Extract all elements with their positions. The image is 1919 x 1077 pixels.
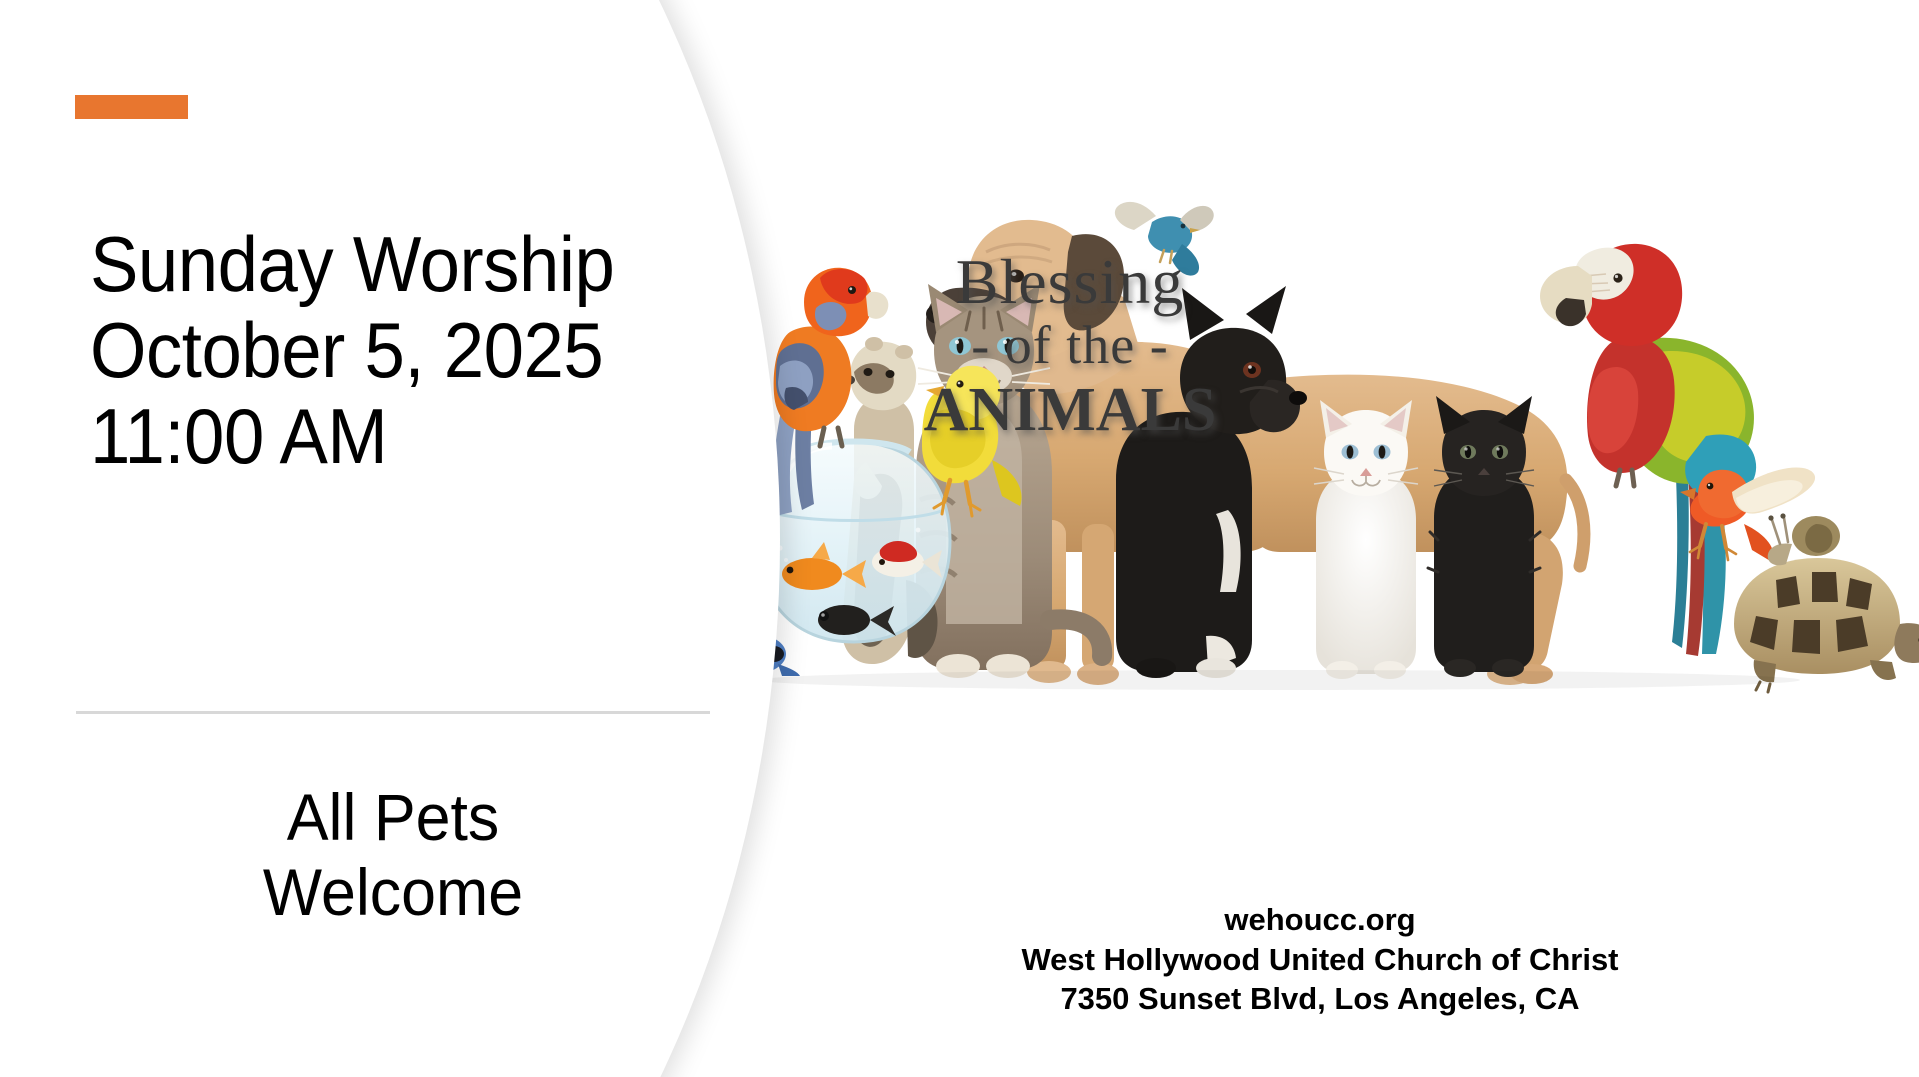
headline-line-1: Sunday Worship [90,222,667,308]
horizontal-divider [76,711,710,714]
footer-address: 7350 Sunset Blvd, Los Angeles, CA [880,979,1760,1019]
title-line-blessing: Blessing [860,250,1280,314]
footer-contact-block: wehoucc.org West Hollywood United Church… [880,900,1760,1019]
artwork-panel: Blessing - of the - ANIMALS [720,0,1919,1077]
event-subheadline: All Pets Welcome [92,780,694,929]
subhead-line-1: All Pets [92,780,694,855]
title-line-animals: ANIMALS [860,376,1280,445]
slide-canvas: Blessing - of the - ANIMALS [0,0,1919,1077]
snail-illustration [1768,513,1840,565]
white-kitten-illustration [1314,400,1418,679]
accent-bar [75,95,188,119]
scarlet-macaw-illustration [1540,244,1756,656]
black-kitten-illustration [1428,396,1540,677]
footer-organization: West Hollywood United Church of Christ [880,940,1760,980]
footer-website[interactable]: wehoucc.org [880,900,1760,940]
headline-line-3: 11:00 AM [90,394,667,480]
tortoise-illustration [1734,558,1919,692]
headline-line-2: October 5, 2025 [90,308,667,394]
title-line-of-the: - of the - [860,314,1280,376]
blessing-of-the-animals-title: Blessing - of the - ANIMALS [860,250,1280,446]
left-text-column: Sunday Worship October 5, 2025 11:00 AM … [0,0,720,1077]
event-headline: Sunday Worship October 5, 2025 11:00 AM [90,222,667,479]
subhead-line-2: Welcome [92,855,694,930]
